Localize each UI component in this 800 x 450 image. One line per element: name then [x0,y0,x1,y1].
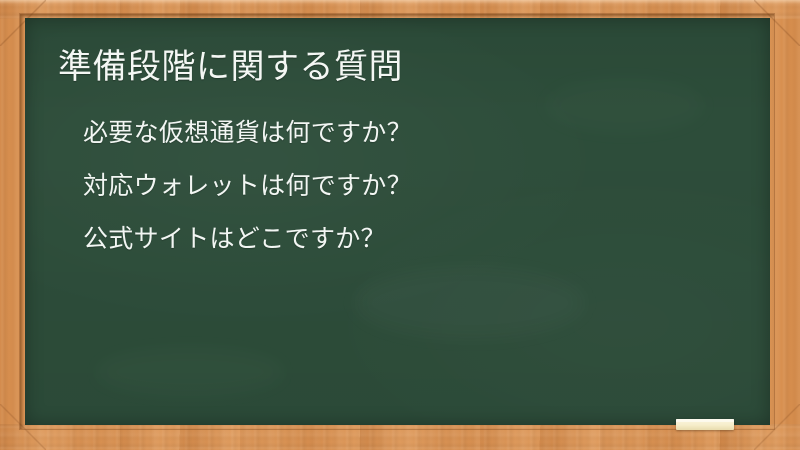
frame-edge-highlight [0,0,800,4]
chalkboard-slide: 準備段階に関する質問 必要な仮想通貨は何ですか？ 対応ウォレットは何ですか？ 公… [0,0,800,450]
chalk-stick [676,419,734,430]
chalkboard-surface: 準備段階に関する質問 必要な仮想通貨は何ですか？ 対応ウォレットは何ですか？ 公… [25,18,770,425]
chalk-smudge [545,78,705,133]
chalk-smudge [95,348,285,396]
question-item-2: 対応ウォレットは何ですか？ [83,173,412,198]
question-item-3: 公式サイトはどこですか？ [83,226,412,251]
question-list: 必要な仮想通貨は何ですか？ 対応ウォレットは何ですか？ 公式サイトはどこですか？ [83,120,412,279]
question-item-1: 必要な仮想通貨は何ですか？ [83,120,412,145]
board-title: 準備段階に関する質問 [58,46,403,89]
